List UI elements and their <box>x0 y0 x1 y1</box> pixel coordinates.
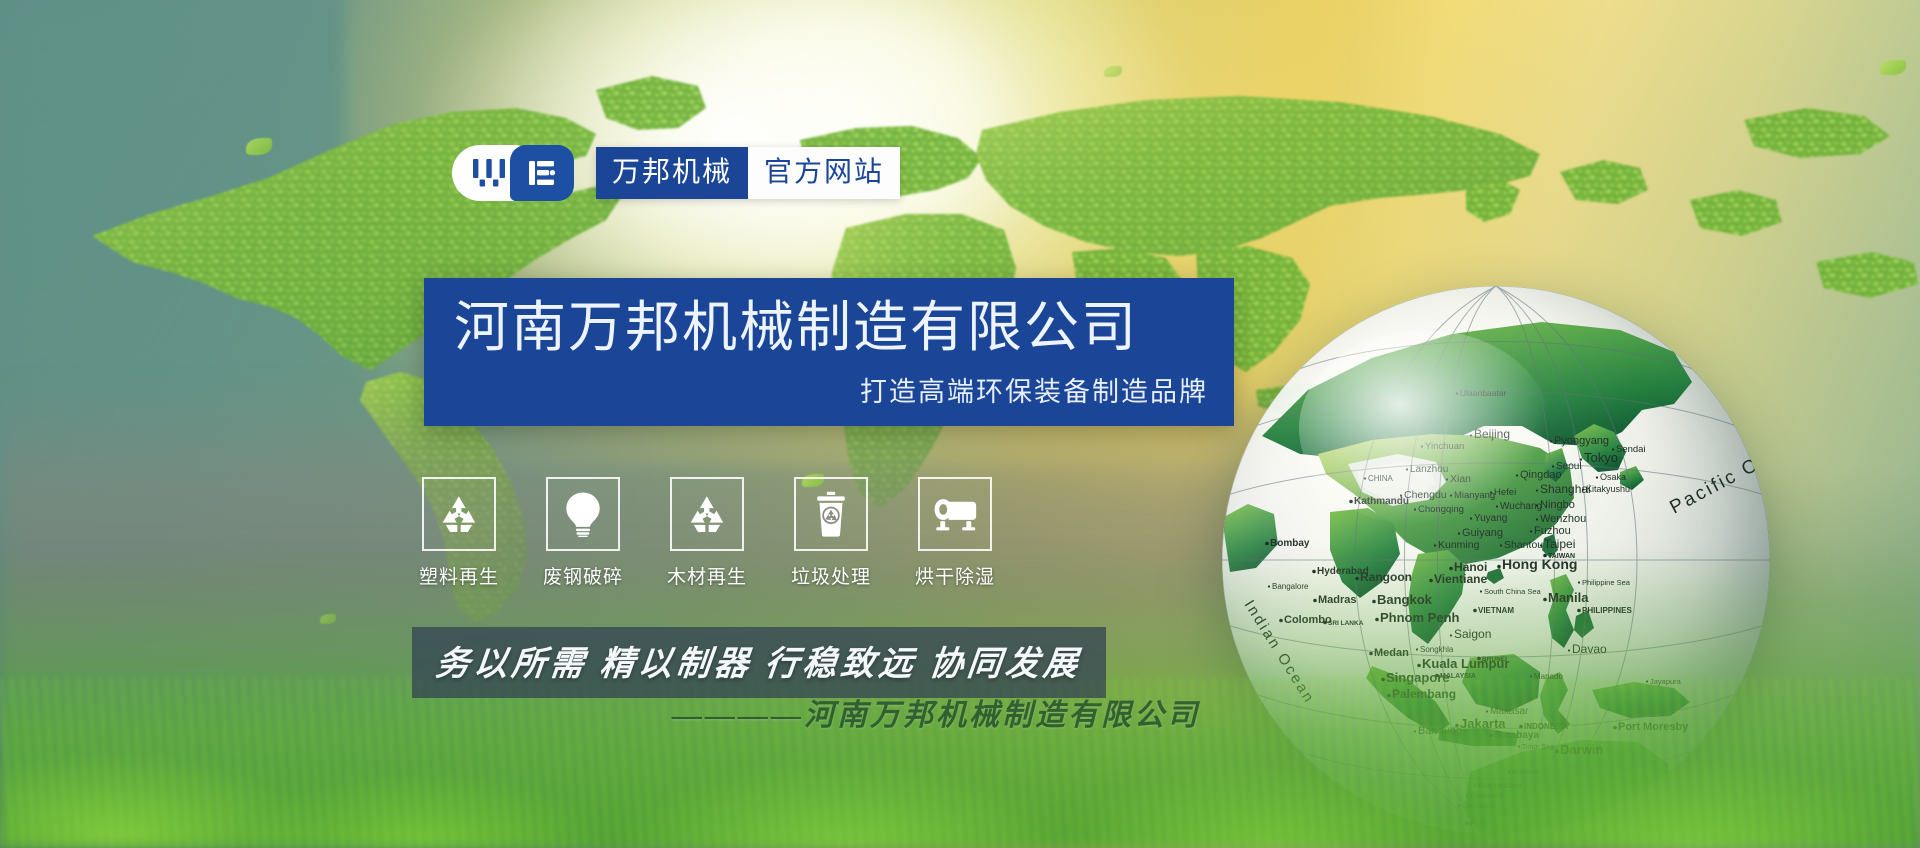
vignette-overlay <box>0 0 1920 848</box>
hero-banner: Pacific OceanIndian Ocean UlaanbaatarBei… <box>0 0 1920 848</box>
logo-b-bubble-mark <box>510 145 574 201</box>
company-logo[interactable] <box>452 145 574 201</box>
